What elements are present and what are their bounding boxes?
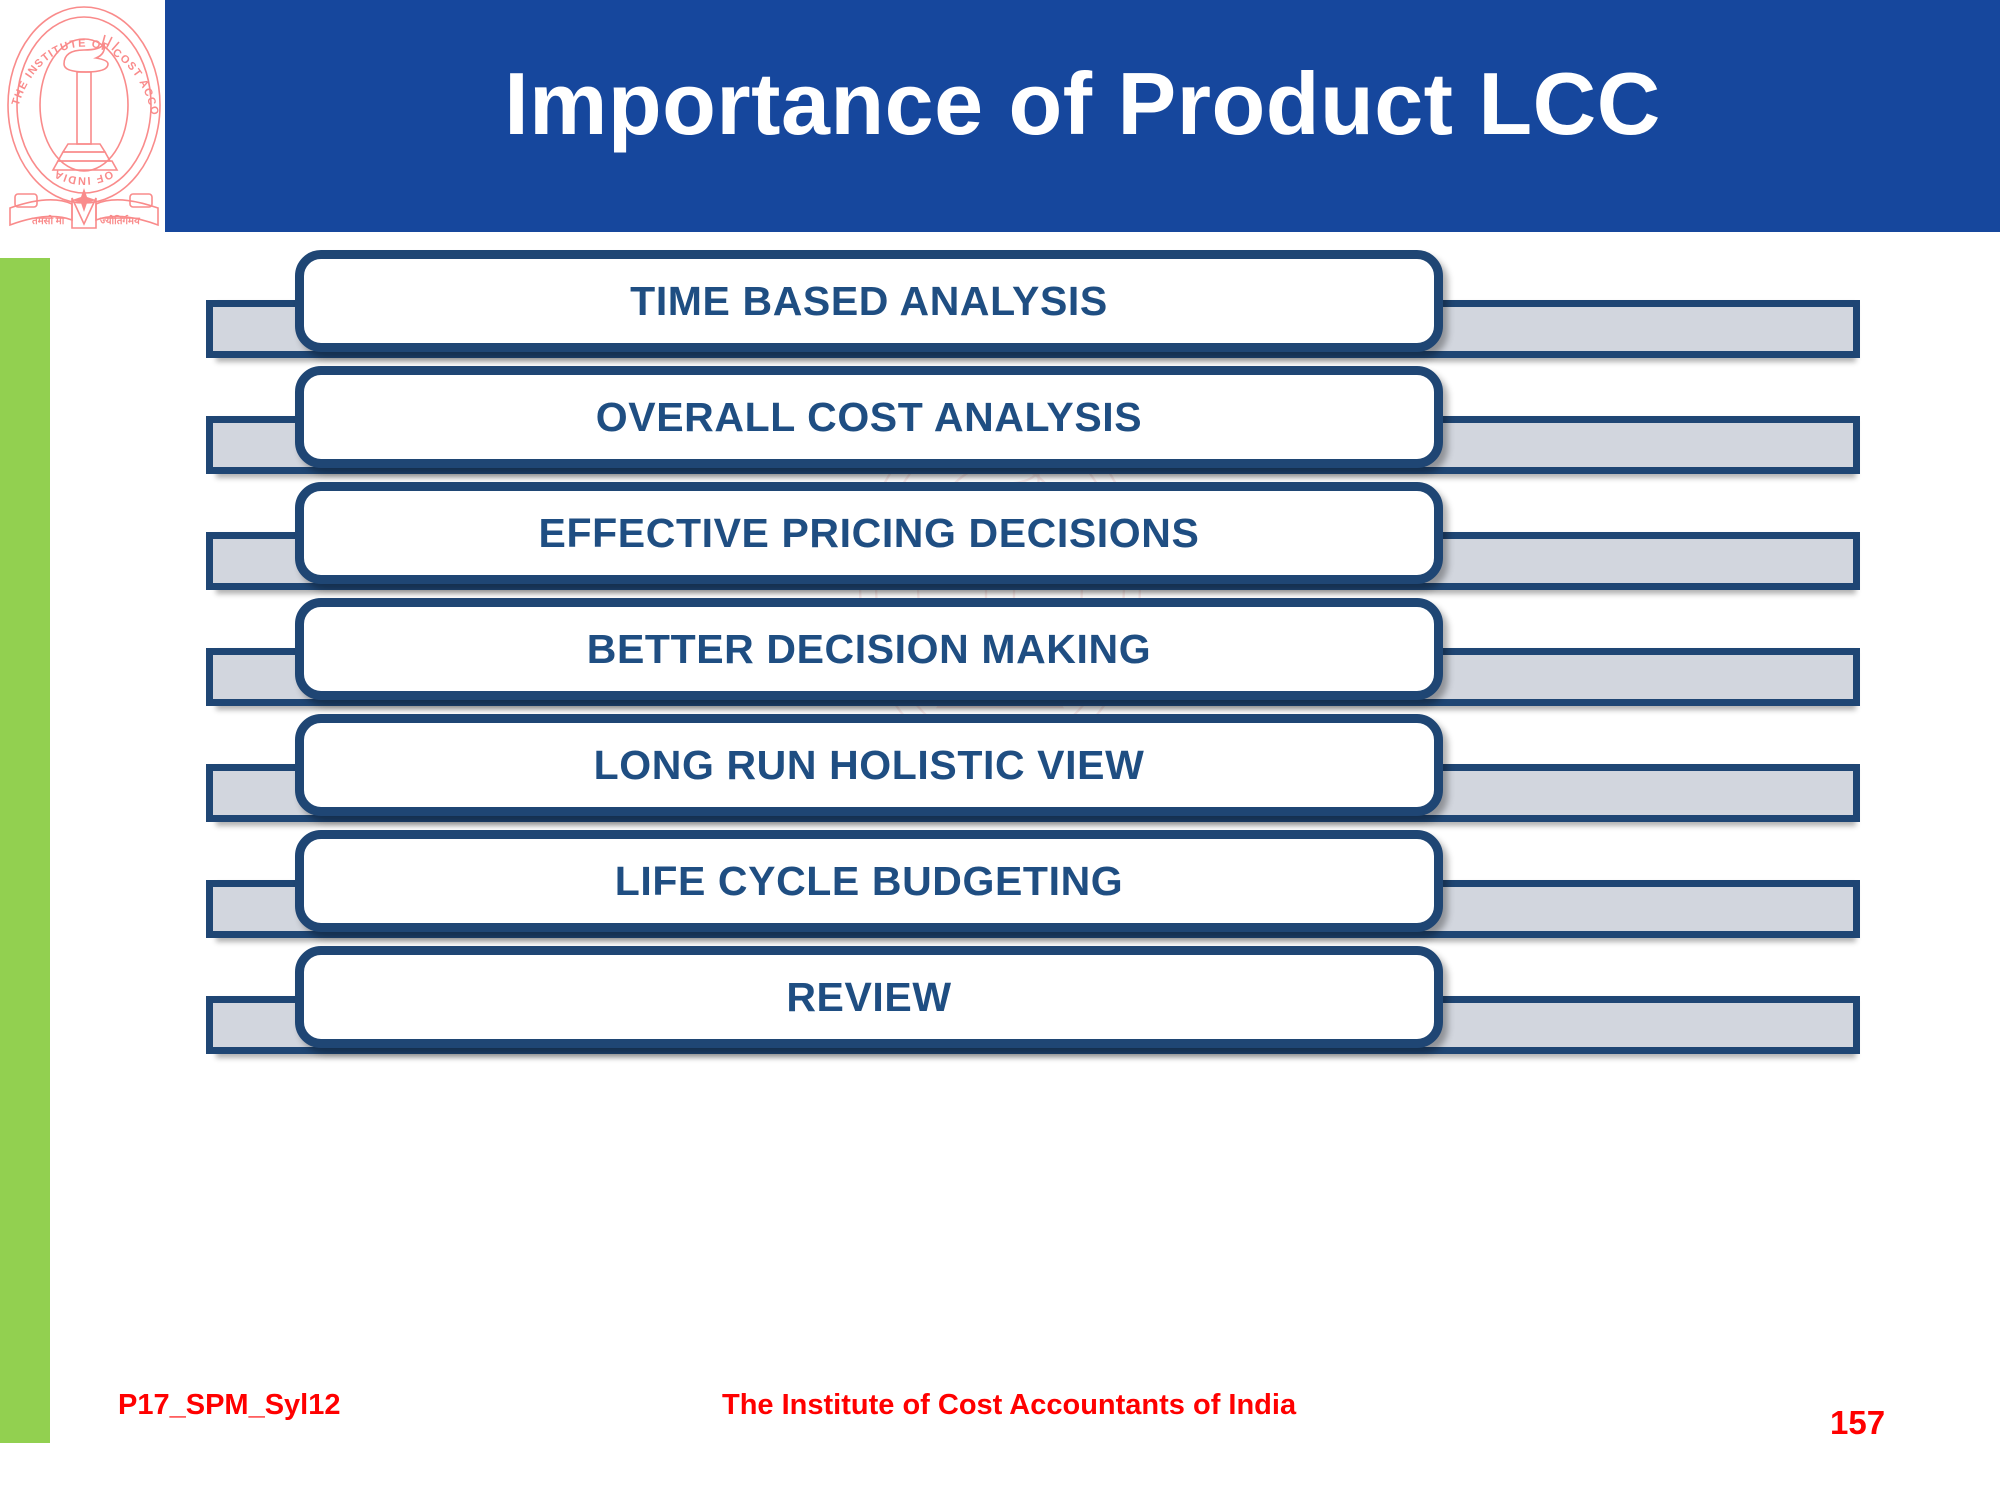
importance-item-row: LIFE CYCLE BUDGETING [0, 830, 2000, 950]
importance-item-label: LONG RUN HOLISTIC VIEW [594, 745, 1145, 786]
importance-item-pill[interactable]: EFFECTIVE PRICING DECISIONS [295, 482, 1443, 584]
importance-item-label: EFFECTIVE PRICING DECISIONS [539, 513, 1200, 554]
importance-items-list: TIME BASED ANALYSISOVERALL COST ANALYSIS… [0, 0, 2000, 1500]
importance-item-pill[interactable]: OVERALL COST ANALYSIS [295, 366, 1443, 468]
importance-item-row: EFFECTIVE PRICING DECISIONS [0, 482, 2000, 602]
importance-item-pill[interactable]: LIFE CYCLE BUDGETING [295, 830, 1443, 932]
importance-item-pill[interactable]: BETTER DECISION MAKING [295, 598, 1443, 700]
importance-item-label: BETTER DECISION MAKING [587, 629, 1151, 670]
footer-subject-code: P17_SPM_Syl12 [118, 1389, 340, 1422]
importance-item-label: LIFE CYCLE BUDGETING [615, 861, 1124, 902]
importance-item-row: REVIEW [0, 946, 2000, 1066]
importance-item-pill[interactable]: REVIEW [295, 946, 1443, 1048]
importance-item-row: OVERALL COST ANALYSIS [0, 366, 2000, 486]
footer-page-number: 157 [1830, 1404, 1885, 1442]
importance-item-row: LONG RUN HOLISTIC VIEW [0, 714, 2000, 834]
slide-canvas: Importance of Product LCC [0, 0, 2000, 1500]
importance-item-label: OVERALL COST ANALYSIS [596, 397, 1142, 438]
importance-item-label: REVIEW [786, 977, 951, 1018]
importance-item-row: BETTER DECISION MAKING [0, 598, 2000, 718]
importance-item-row: TIME BASED ANALYSIS [0, 250, 2000, 370]
importance-item-pill[interactable]: TIME BASED ANALYSIS [295, 250, 1443, 352]
footer-institute-name: The Institute of Cost Accountants of Ind… [722, 1389, 1296, 1422]
importance-item-label: TIME BASED ANALYSIS [630, 281, 1108, 322]
importance-item-pill[interactable]: LONG RUN HOLISTIC VIEW [295, 714, 1443, 816]
